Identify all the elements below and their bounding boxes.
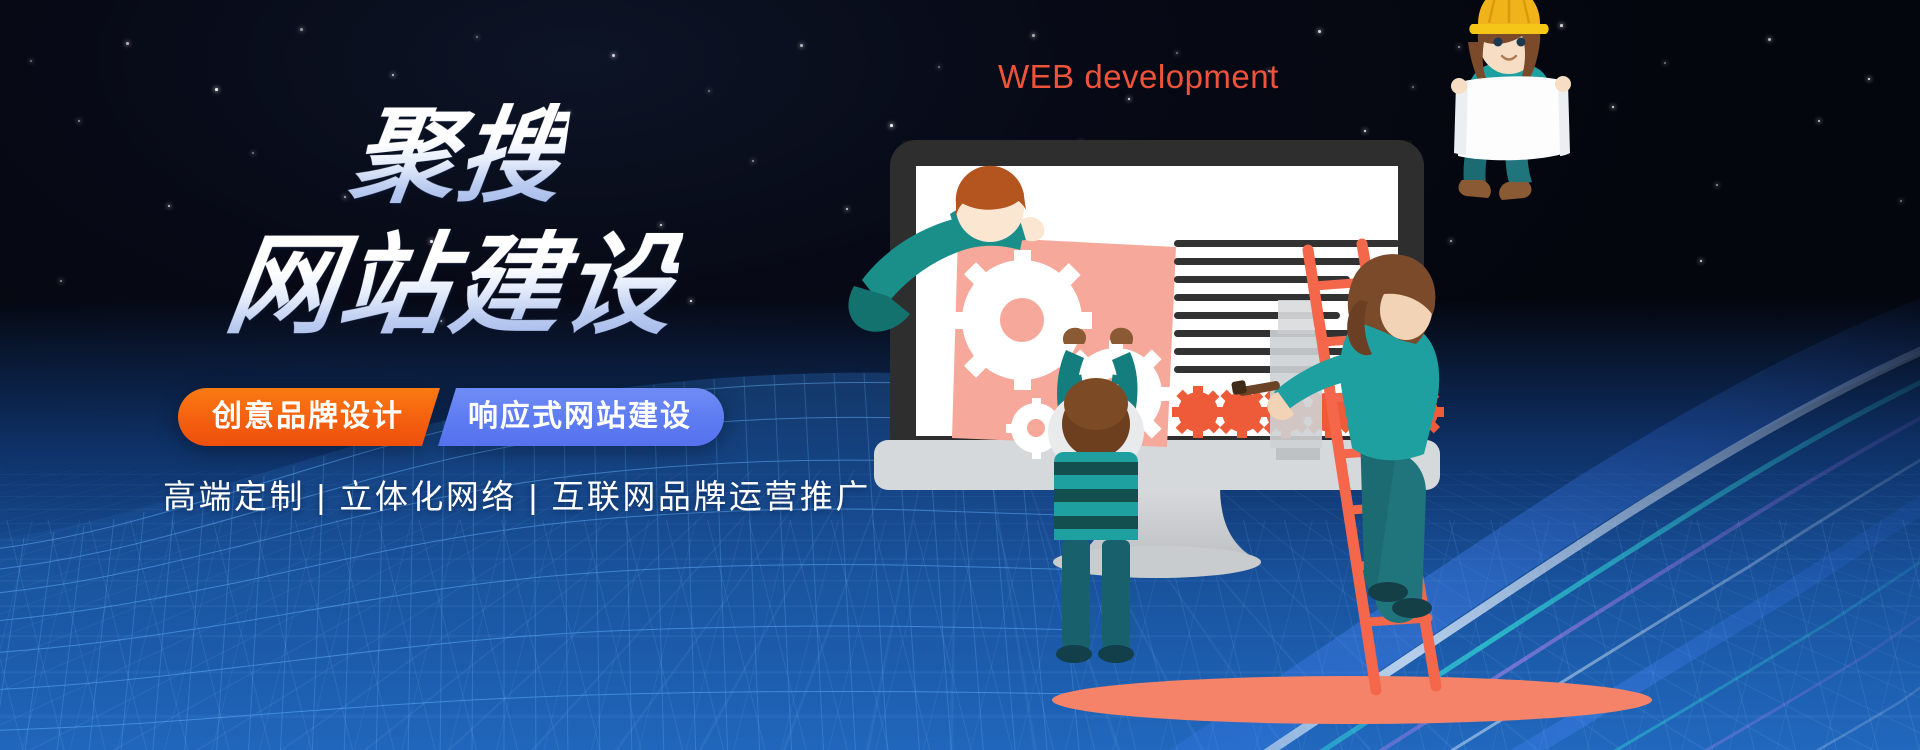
web-development-illustration: WEB development <box>840 0 1920 750</box>
hero-banner: WEB development <box>0 0 1920 750</box>
headline-line-2: 网站建设 <box>220 228 684 344</box>
headline-line-1: 聚搜 <box>344 103 571 212</box>
character-hardhat-blueprint <box>1451 0 1571 200</box>
headline-block: 聚搜 网站建设 创意品牌设计 响应式网站建设 高端定制 | 立体化网络 | 互联… <box>0 0 900 750</box>
tagline-text: 高端定制 | 立体化网络 | 互联网品牌运营推广 <box>163 470 871 518</box>
pill-responsive-web-build[interactable]: 响应式网站建设 <box>438 388 724 446</box>
screen-title-text: WEB development <box>998 58 1279 95</box>
pill-creative-brand-design[interactable]: 创意品牌设计 <box>178 388 440 446</box>
ground-shadow-ellipse <box>1052 676 1652 724</box>
feature-pill-group: 创意品牌设计 响应式网站建设 <box>178 388 724 446</box>
blueprint-sheet <box>1454 76 1570 160</box>
illustration-svg: WEB development <box>840 0 1920 750</box>
